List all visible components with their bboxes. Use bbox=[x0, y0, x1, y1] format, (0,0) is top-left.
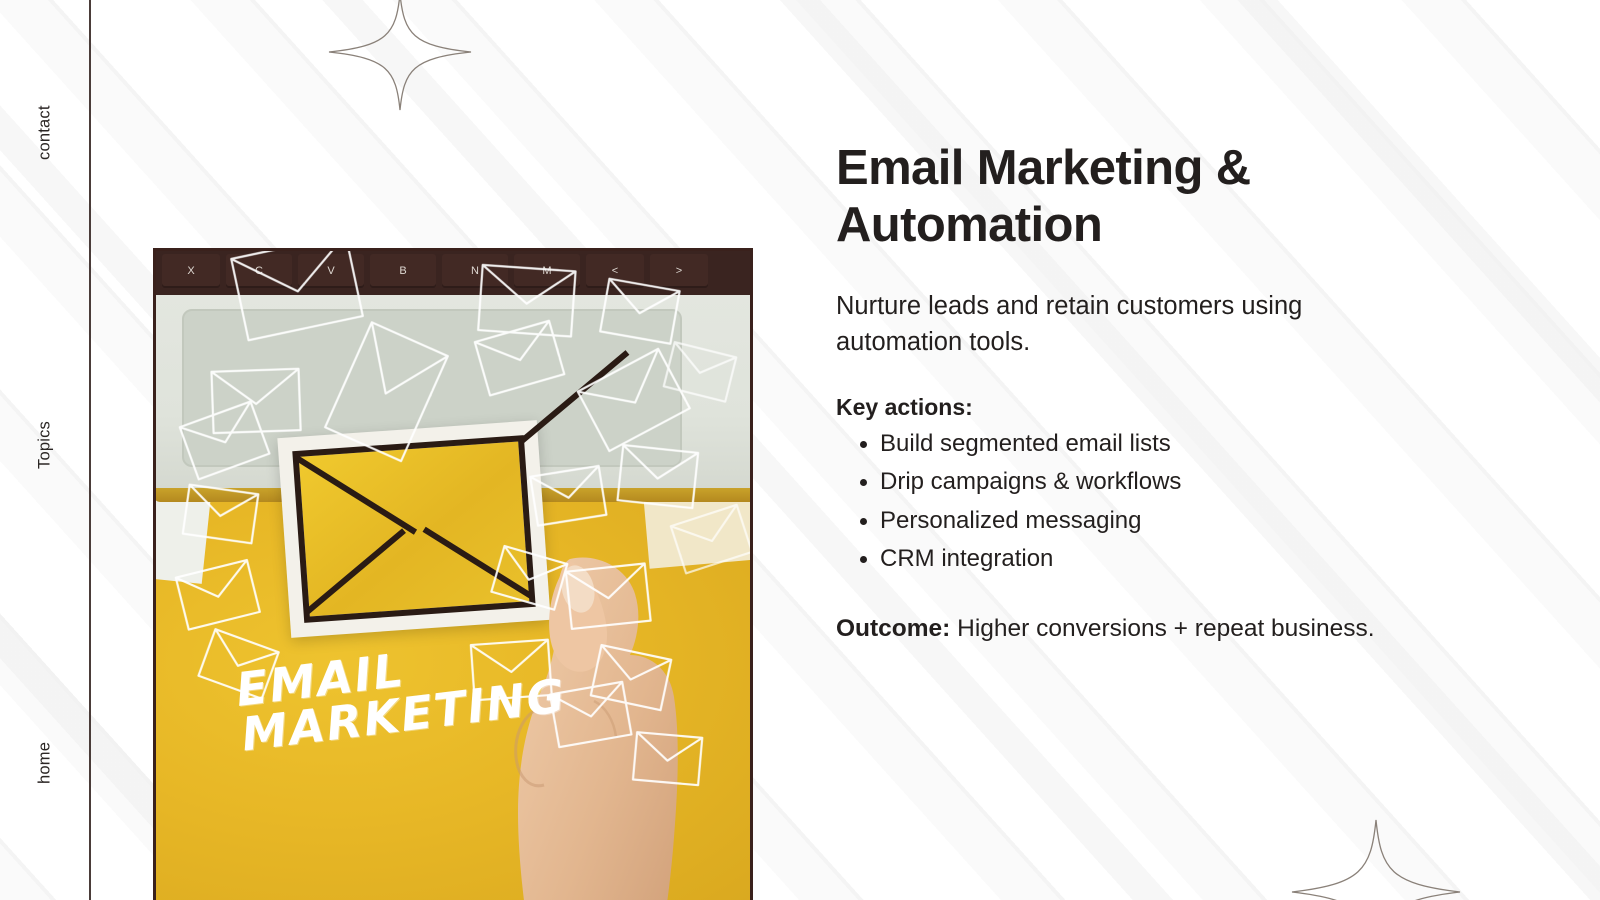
content-panel: Email Marketing & Automation Nurture lea… bbox=[836, 140, 1416, 646]
keyboard-key: M bbox=[514, 254, 580, 288]
keyboard-key: V bbox=[298, 254, 364, 288]
vertical-nav: contact Topics home bbox=[0, 0, 90, 900]
list-item: Build segmented email lists bbox=[880, 425, 1416, 463]
nav-item-contact[interactable]: contact bbox=[0, 88, 90, 178]
nav-item-topics-label: Topics bbox=[36, 421, 55, 469]
nav-item-home-label: home bbox=[36, 742, 55, 784]
nav-item-contact-label: contact bbox=[36, 106, 55, 161]
nav-item-home[interactable]: home bbox=[0, 718, 90, 808]
envelope-fold-left bbox=[306, 528, 406, 614]
key-actions-list: Build segmented email lists Drip campaig… bbox=[836, 425, 1416, 579]
photo-inner: X C V B N M < > bbox=[156, 251, 750, 900]
outcome-label: Outcome: bbox=[836, 615, 950, 642]
lede-paragraph: Nurture leads and retain customers using… bbox=[836, 288, 1416, 360]
outcome-paragraph: Outcome: Higher conversions + repeat bus… bbox=[836, 611, 1416, 647]
page-title: Email Marketing & Automation bbox=[836, 140, 1416, 254]
keyboard-key: C bbox=[226, 254, 292, 288]
key-actions-label: Key actions: bbox=[836, 394, 1416, 421]
email-marketing-photo: X C V B N M < > bbox=[153, 248, 753, 900]
outcome-text: Higher conversions + repeat business. bbox=[950, 615, 1374, 642]
list-item: CRM integration bbox=[880, 540, 1416, 578]
nav-item-topics[interactable]: Topics bbox=[0, 400, 90, 490]
keyboard-key: > bbox=[650, 254, 708, 288]
slide-root: contact Topics home bbox=[0, 0, 1600, 900]
sparkle-icon bbox=[1290, 818, 1462, 900]
keyboard-key: N bbox=[442, 254, 508, 288]
list-item: Personalized messaging bbox=[880, 502, 1416, 540]
sparkle-icon bbox=[327, 0, 473, 112]
list-item: Drip campaigns & workflows bbox=[880, 463, 1416, 501]
keyboard-key: < bbox=[586, 254, 644, 288]
laptop-keyboard: X C V B N M < > bbox=[156, 251, 750, 295]
keyboard-key: X bbox=[162, 254, 220, 288]
keyboard-key: B bbox=[370, 254, 436, 288]
